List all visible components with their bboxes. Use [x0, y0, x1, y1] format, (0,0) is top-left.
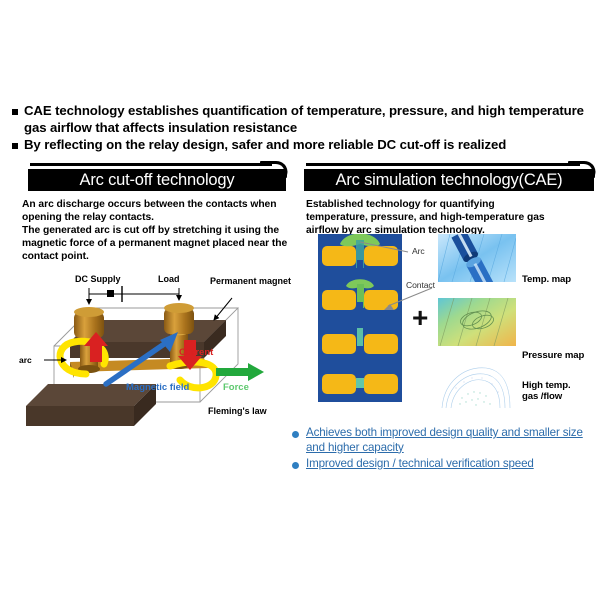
header-rule	[30, 163, 272, 166]
round-bullet-icon	[292, 431, 299, 438]
benefit-item[interactable]: Improved design / technical verification…	[292, 457, 592, 472]
label-current: Current	[179, 347, 214, 358]
benefit-item[interactable]: Achieves both improved design quality an…	[292, 426, 592, 455]
label-magnetic-field: Magnetic field	[126, 382, 190, 393]
round-bullet-icon	[292, 462, 299, 469]
label-dc-supply: DC Supply	[75, 274, 121, 284]
label-permanent-magnet: Permanent magnet	[210, 276, 291, 286]
pressure-map-image	[438, 298, 516, 346]
panel-header-arc-cutoff: Arc cut-off technology	[28, 163, 286, 187]
benefit-link-text[interactable]: Achieves both improved design quality an…	[306, 426, 592, 455]
panel-header-arc-simulation: Arc simulation technology(CAE)	[304, 163, 594, 187]
gas-flow-map-label: High temp. gas /flow	[522, 380, 571, 402]
plus-operator: +	[412, 304, 428, 332]
key-point-item: By reflecting on the relay design, safer…	[12, 137, 592, 154]
arc-simulation-figure: Arc Contact +	[304, 232, 596, 420]
pressure-map-label: Pressure map	[522, 350, 584, 361]
callout-arc-label: Arc	[412, 246, 425, 256]
header-rule	[306, 163, 580, 166]
panel-title-right: Arc simulation technology(CAE)	[304, 169, 594, 191]
arc-cutoff-diagram: DC Supply Load Permanent magnet arc Curr…	[18, 262, 292, 434]
key-point-text: By reflecting on the relay design, safer…	[24, 137, 592, 154]
key-point-item: CAE technology establishes quantificatio…	[12, 103, 592, 136]
label-arc: arc	[19, 355, 32, 365]
temp-map-label: Temp. map	[522, 274, 571, 285]
benefits-list: Achieves both improved design quality an…	[292, 426, 592, 474]
temp-map-image	[438, 234, 516, 282]
label-flemings-law: Fleming's law	[208, 406, 268, 416]
label-force: Force	[223, 382, 249, 393]
panel-body-left: An arc discharge occurs between the cont…	[22, 198, 292, 263]
panel-title-left: Arc cut-off technology	[28, 169, 286, 191]
callout-contact-label: Contact	[406, 280, 435, 290]
square-bullet-icon	[12, 143, 18, 149]
key-point-text: CAE technology establishes quantificatio…	[24, 103, 592, 136]
benefit-link-text[interactable]: Improved design / technical verification…	[306, 457, 592, 472]
square-bullet-icon	[12, 109, 18, 115]
gas-flow-map-image	[438, 362, 516, 410]
key-points-list: CAE technology establishes quantificatio…	[12, 103, 592, 154]
label-load: Load	[158, 274, 180, 284]
